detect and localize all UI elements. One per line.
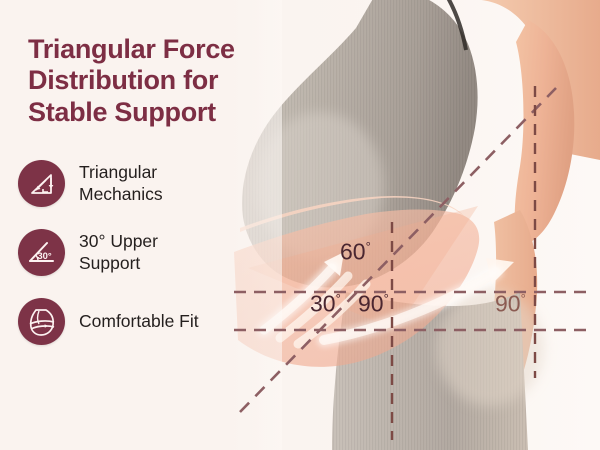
title-line-2: Distribution for bbox=[28, 65, 298, 96]
angle-label-90-right: 90° bbox=[495, 292, 526, 316]
angle-30-degree-icon: 30° bbox=[18, 229, 65, 276]
feature-label-line-2: Support bbox=[79, 253, 140, 273]
belly-belt-fit-icon bbox=[18, 298, 65, 345]
title-line-1: Triangular Force bbox=[28, 34, 298, 65]
degree-symbol: ° bbox=[521, 291, 526, 306]
feature-item-comfortable-fit[interactable]: Comfortable Fit bbox=[18, 298, 268, 345]
page-title: Triangular Force Distribution for Stable… bbox=[28, 34, 298, 128]
feature-item-30-upper-support[interactable]: 30° 30° Upper Support bbox=[18, 229, 268, 276]
feature-item-triangular-mechanics[interactable]: Triangular Mechanics bbox=[18, 160, 268, 207]
angle-value: 90 bbox=[358, 291, 384, 317]
degree-symbol: ° bbox=[384, 291, 389, 306]
feature-label: Triangular Mechanics bbox=[79, 162, 163, 205]
feature-label-line-2: Mechanics bbox=[79, 184, 163, 204]
degree-symbol: ° bbox=[366, 239, 371, 254]
feature-label: Comfortable Fit bbox=[79, 311, 199, 332]
promo-graphic: Triangular Force Distribution for Stable… bbox=[0, 0, 600, 450]
feature-label-line-1: Triangular bbox=[79, 162, 157, 182]
feature-label: 30° Upper Support bbox=[79, 231, 158, 274]
angle-label-30: 30° bbox=[310, 292, 341, 316]
angle-value: 90 bbox=[495, 291, 521, 317]
feature-label-line-1: Comfortable Fit bbox=[79, 311, 199, 331]
feature-label-line-1: 30° Upper bbox=[79, 231, 158, 251]
angle-label-60: 60° bbox=[340, 240, 371, 264]
angle-label-90-left: 90° bbox=[358, 292, 389, 316]
feature-list: Triangular Mechanics 30° 30° Upper Suppo… bbox=[18, 160, 268, 367]
angle-value: 60 bbox=[340, 239, 366, 265]
title-line-3: Stable Support bbox=[28, 97, 298, 128]
triangle-mechanics-icon bbox=[18, 160, 65, 207]
degree-symbol: ° bbox=[336, 291, 341, 306]
angle-value: 30 bbox=[310, 291, 336, 317]
icon-badge-text: 30° bbox=[37, 251, 52, 262]
